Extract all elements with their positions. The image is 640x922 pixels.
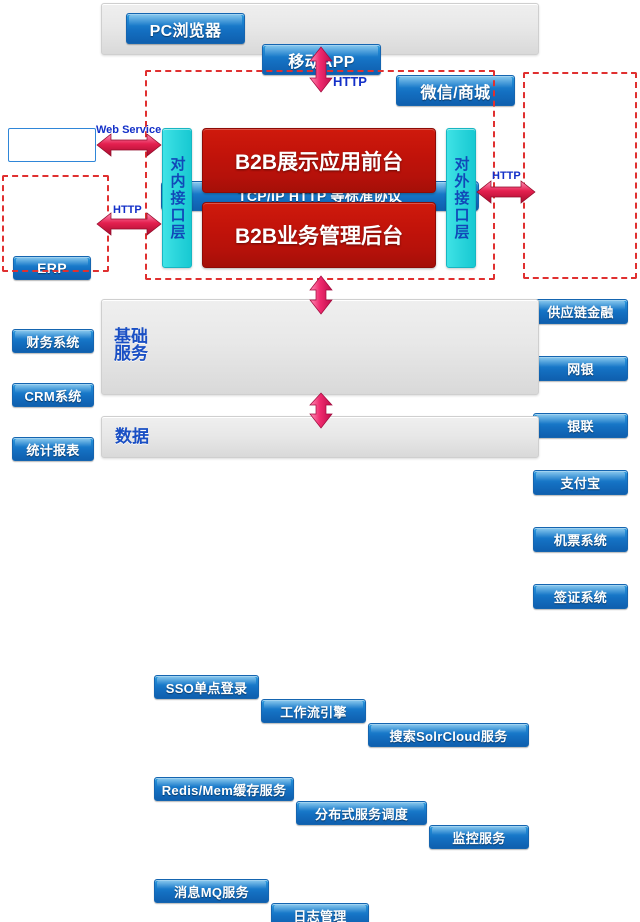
base-service-sso[interactable]: SSO单点登录 [154,675,259,699]
left-system-crm[interactable]: CRM系统 [12,383,94,407]
right-system-label: 签证系统 [554,587,607,606]
base-service-label: 日志管理 [293,906,346,922]
left-system-statistics[interactable]: 统计报表 [12,437,94,461]
right-system-online-banking[interactable]: 网银 [533,356,628,381]
base-services-label: 基础 服务 [108,328,154,363]
connector-label-top-http: HTTP [333,74,367,89]
right-system-label: 网银 [567,359,594,378]
outer-interface-layer-label: 对外接口层 [454,156,469,241]
base-service-solrcloud-search[interactable]: 搜索SolrCloud服务 [368,723,529,747]
connector-label-left-http: HTTP [113,204,142,216]
data-layer-label: 数据 [109,428,155,445]
base-service-log-management[interactable]: 日志管理 [271,903,369,922]
base-services-panel [101,299,539,395]
base-services-label-line2: 服务 [108,345,154,362]
connector-label-web-service: Web Service [96,124,161,136]
right-system-flight-ticket[interactable]: 机票系统 [533,527,628,552]
right-system-alipay[interactable]: 支付宝 [533,470,628,495]
base-service-workflow-engine[interactable]: 工作流引擎 [261,699,366,723]
base-service-label: Redis/Mem缓存服务 [162,780,287,799]
base-service-label: 分布式服务调度 [315,804,408,823]
client-button-pc-browser[interactable]: PC浏览器 [126,13,245,44]
left-system-finance[interactable]: 财务系统 [12,329,94,353]
right-system-visa[interactable]: 签证系统 [533,584,628,609]
inner-interface-layer-label: 对内接口层 [170,156,185,241]
right-system-supply-chain-finance[interactable]: 供应链金融 [533,299,628,324]
base-service-label: 工作流引擎 [280,702,347,721]
architecture-diagram: PC浏览器 移动APP 微信/商城 TCP/IP HTTP 等标准协议 对内接口… [0,0,640,461]
outer-interface-layer[interactable]: 对外接口层 [446,128,476,268]
right-system-label: 供应链金融 [547,302,614,321]
base-service-label: 消息MQ服务 [174,882,249,901]
right-system-label: 机票系统 [554,530,607,549]
right-system-unionpay[interactable]: 银联 [533,413,628,438]
base-service-redis-mem-cache[interactable]: Redis/Mem缓存服务 [154,777,294,801]
base-service-label: 监控服务 [452,828,505,847]
external-systems-boundary [523,72,637,279]
internal-systems-boundary [2,175,109,272]
client-button-label: PC浏览器 [150,17,222,41]
client-button-label: 移动APP [288,48,354,72]
connector-label-right-http: HTTP [492,170,521,182]
right-system-label: 银联 [567,416,594,435]
data-layer-panel [101,416,539,458]
app-box-frontend[interactable]: B2B展示应用前台 [202,128,436,193]
base-services-label-line1: 基础 [108,328,154,345]
right-system-label: 支付宝 [561,473,601,492]
app-box-label: B2B业务管理后台 [235,220,403,250]
base-service-label: 搜索SolrCloud服务 [389,726,507,745]
inner-interface-layer[interactable]: 对内接口层 [162,128,192,268]
base-service-message-mq[interactable]: 消息MQ服务 [154,879,269,903]
base-service-monitoring[interactable]: 监控服务 [429,825,529,849]
erp-container [8,128,96,162]
left-system-label: 统计报表 [26,440,79,459]
base-service-label: SSO单点登录 [166,678,248,697]
left-system-label: 财务系统 [26,332,79,351]
left-system-label: CRM系统 [24,386,81,405]
app-box-backend[interactable]: B2B业务管理后台 [202,202,436,268]
app-box-label: B2B展示应用前台 [235,146,403,176]
base-service-distributed-scheduling[interactable]: 分布式服务调度 [296,801,427,825]
